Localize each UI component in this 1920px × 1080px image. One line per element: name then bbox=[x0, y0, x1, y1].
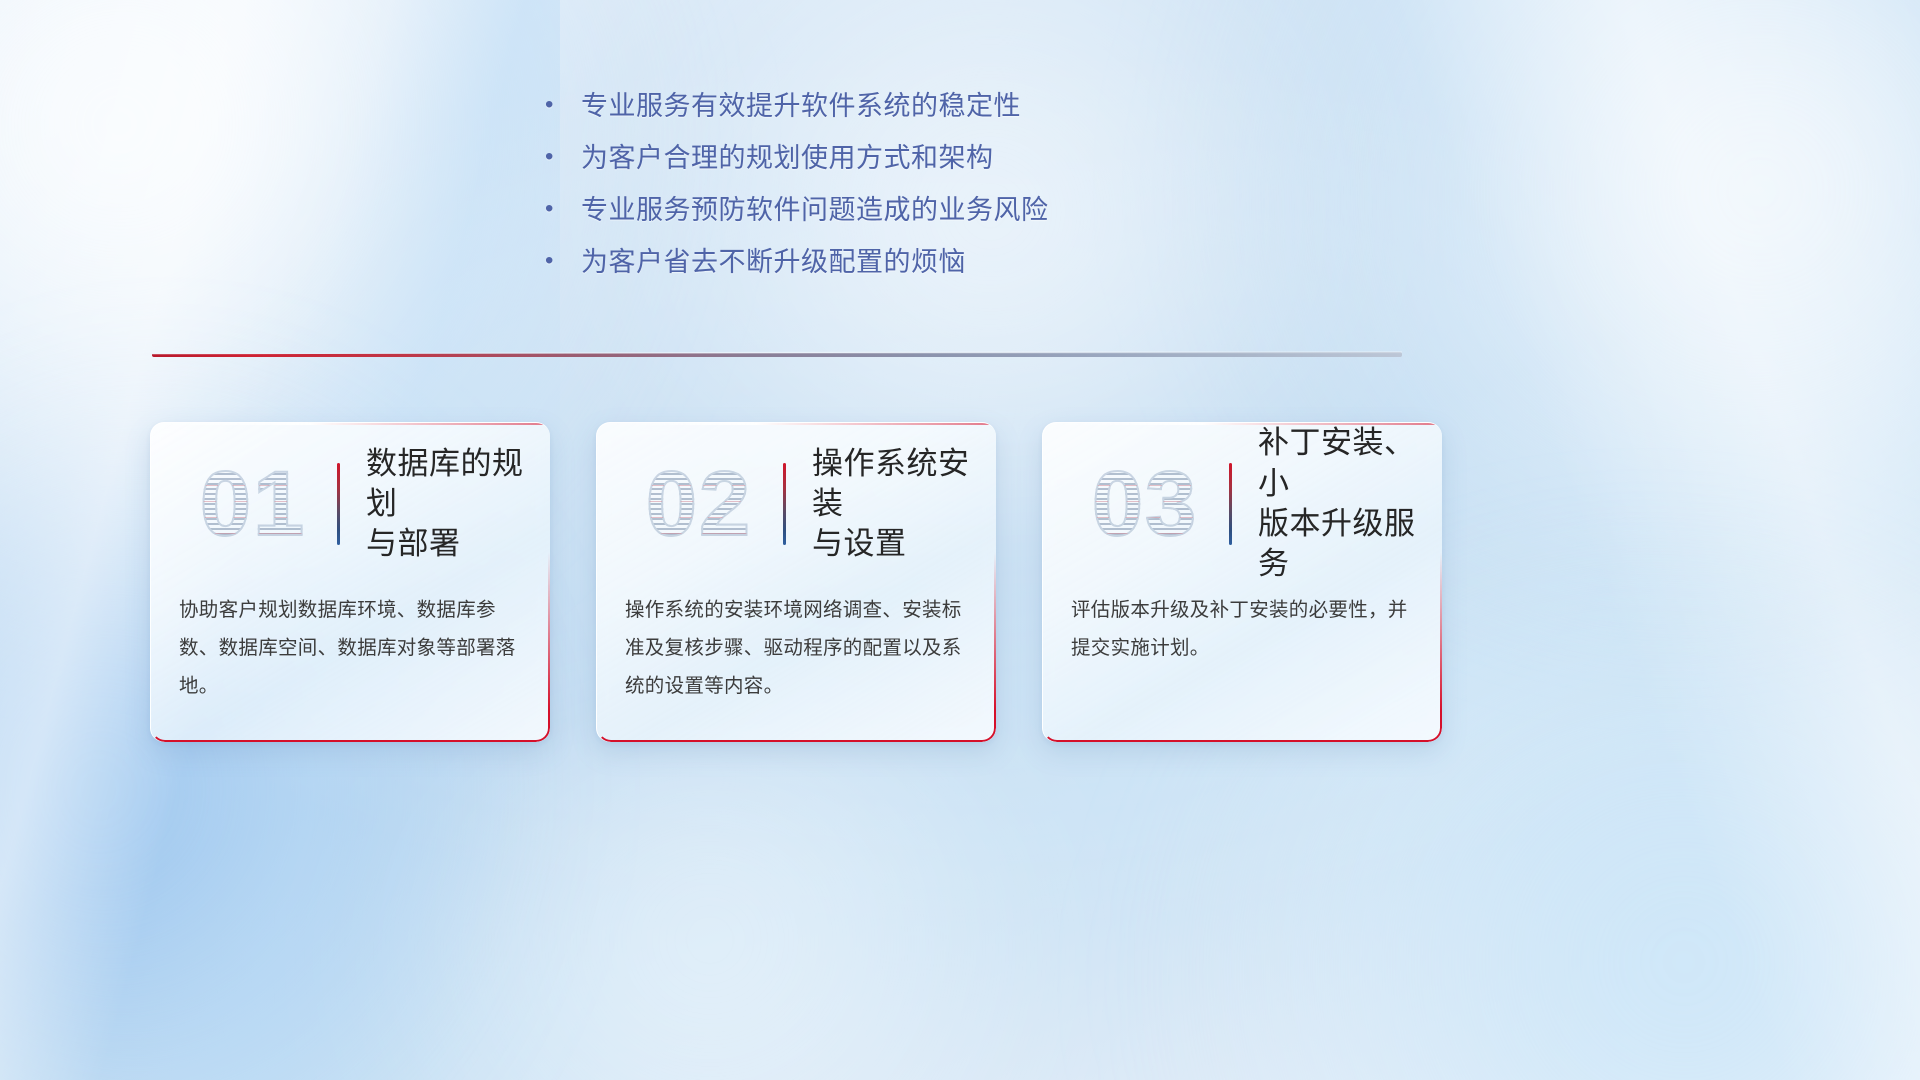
bullet-text: 专业服务有效提升软件系统的稳定性 bbox=[581, 92, 1021, 120]
bullet-text: 专业服务预防软件问题造成的业务风险 bbox=[581, 196, 1049, 224]
card-description: 操作系统的安装环境网络调查、安装标准及复核步骤、驱动程序的配置以及系统的设置等内… bbox=[625, 591, 970, 705]
card-number: 02 bbox=[619, 458, 779, 550]
card-title-line-1: 补丁安装、小 bbox=[1258, 423, 1442, 504]
service-card-02[interactable]: 02 操作系统安装 与设置 操作系统的安装环境网络调查、安装标准及复核步骤、驱动… bbox=[596, 422, 996, 742]
bullet-dot-icon: • bbox=[545, 248, 581, 273]
card-title-divider bbox=[1229, 463, 1232, 545]
card-description: 协助客户规划数据库环境、数据库参数、数据库空间、数据库对象等部署落地。 bbox=[179, 591, 524, 705]
bullet-dot-icon: • bbox=[545, 144, 581, 169]
bullet-dot-icon: • bbox=[545, 92, 581, 117]
card-title-divider bbox=[337, 463, 340, 545]
list-item: • 为客户合理的规划使用方式和架构 bbox=[545, 144, 1305, 196]
bullet-text: 为客户省去不断升级配置的烦恼 bbox=[581, 248, 966, 276]
card-title: 数据库的规划 与部署 bbox=[366, 444, 550, 565]
card-description: 评估版本升级及补丁安装的必要性，并提交实施计划。 bbox=[1071, 591, 1416, 667]
card-title-line-2: 版本升级服务 bbox=[1258, 504, 1442, 585]
list-item: • 专业服务有效提升软件系统的稳定性 bbox=[545, 92, 1305, 144]
card-title-line-1: 数据库的规划 bbox=[366, 444, 550, 525]
section-divider bbox=[152, 348, 1402, 364]
card-top-highlight bbox=[597, 423, 996, 425]
list-item: • 专业服务预防软件问题造成的业务风险 bbox=[545, 196, 1305, 248]
service-card-group: 01 数据库的规划 与部署 协助客户规划数据库环境、数据库参数、数据库空间、数据… bbox=[150, 422, 1442, 742]
card-title-line-2: 与部署 bbox=[366, 524, 550, 564]
card-number: 01 bbox=[173, 458, 333, 550]
bullet-dot-icon: • bbox=[545, 196, 581, 221]
card-number: 03 bbox=[1065, 458, 1225, 550]
card-title: 操作系统安装 与设置 bbox=[812, 444, 996, 565]
card-title: 补丁安装、小 版本升级服务 bbox=[1258, 423, 1442, 584]
card-title-divider bbox=[783, 463, 786, 545]
card-title-line-2: 与设置 bbox=[812, 524, 996, 564]
card-header: 01 数据库的规划 与部署 bbox=[151, 439, 550, 569]
card-header: 03 补丁安装、小 版本升级服务 bbox=[1043, 439, 1442, 569]
service-card-01[interactable]: 01 数据库的规划 与部署 协助客户规划数据库环境、数据库参数、数据库空间、数据… bbox=[150, 422, 550, 742]
bullet-text: 为客户合理的规划使用方式和架构 bbox=[581, 144, 994, 172]
list-item: • 为客户省去不断升级配置的烦恼 bbox=[545, 248, 1305, 300]
service-card-03[interactable]: 03 补丁安装、小 版本升级服务 评估版本升级及补丁安装的必要性，并提交实施计划… bbox=[1042, 422, 1442, 742]
card-top-highlight bbox=[151, 423, 550, 425]
benefits-bullet-list: • 专业服务有效提升软件系统的稳定性 • 为客户合理的规划使用方式和架构 • 专… bbox=[545, 92, 1305, 300]
card-title-line-1: 操作系统安装 bbox=[812, 444, 996, 525]
card-header: 02 操作系统安装 与设置 bbox=[597, 439, 996, 569]
